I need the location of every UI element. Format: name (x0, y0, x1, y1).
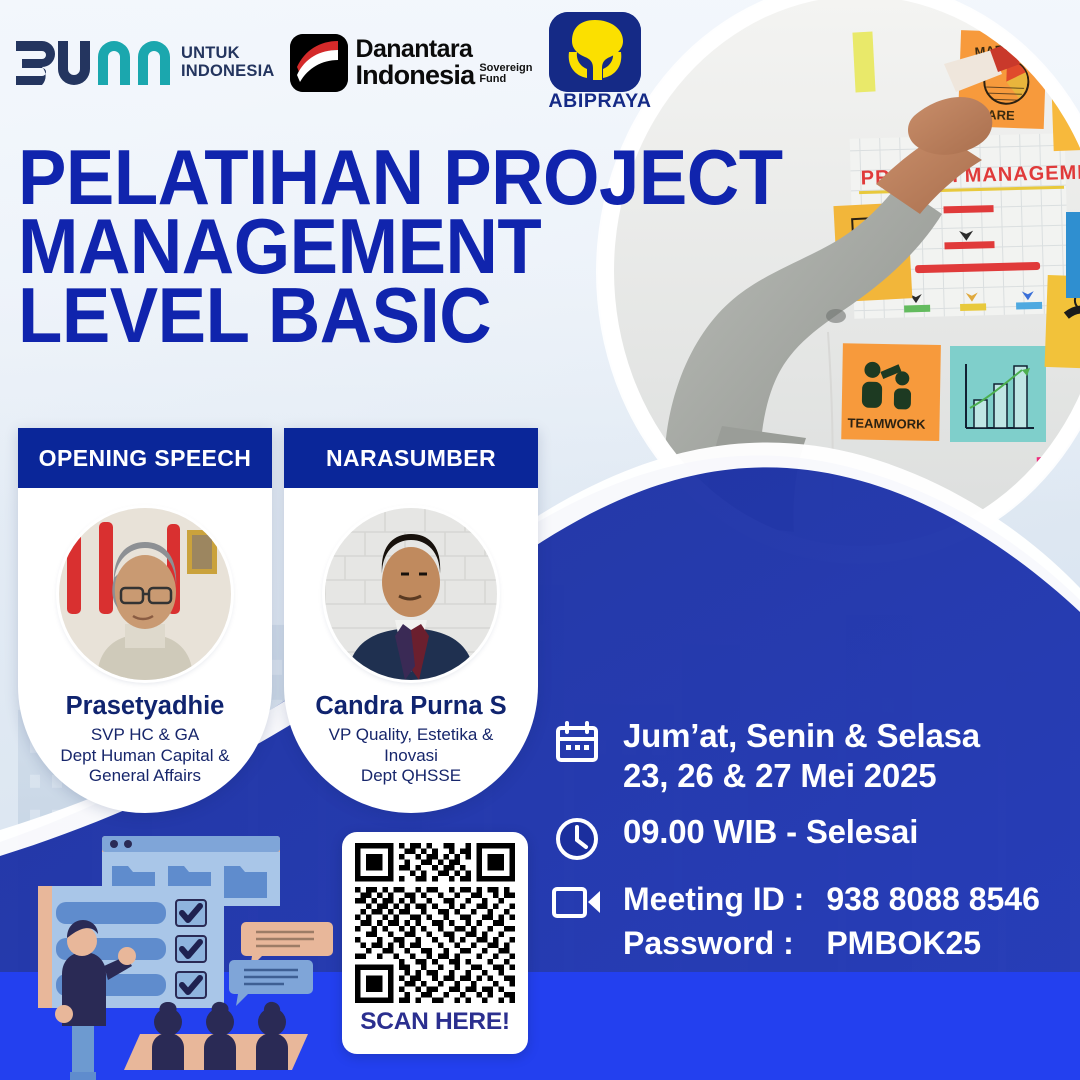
avatar (59, 508, 231, 680)
poster-root: PROJECT MANAGEMENT (0, 0, 1080, 1080)
speaker-role-line: Dept QHSSE (298, 766, 524, 787)
danantara-line2: Indonesia (355, 62, 474, 89)
meeting-id-label: Meeting ID : (623, 879, 804, 920)
page-title: PELATIHAN PROJECT MANAGEMENT LEVEL BASIC (18, 143, 783, 350)
clock-icon (552, 812, 602, 862)
qr-code-icon[interactable] (355, 843, 515, 1003)
danantara-sub2: Fund (479, 74, 532, 85)
abipraya-logo: ABIPRAYA (549, 12, 652, 113)
speaker-name: Prasetyadhie (32, 692, 258, 720)
bumn-wordmark-icon (14, 37, 174, 89)
bumn-tagline-line1: UNTUK (181, 45, 274, 62)
abipraya-name: ABIPRAYA (549, 90, 652, 113)
speaker-card-header: OPENING SPEECH (18, 428, 272, 488)
calendar-icon (552, 716, 602, 766)
event-details: Jum’at, Senin & Selasa 23, 26 & 27 Mei 2… (552, 716, 1040, 963)
bumn-tagline: UNTUK INDONESIA (181, 45, 274, 79)
password-value: PMBOK25 (826, 923, 1040, 964)
danantara-wordmark: Danantara Indonesia Sovereign Fund (355, 37, 532, 89)
event-time: 09.00 WIB - Selesai (623, 812, 918, 852)
speaker-cards: OPENING SPEECH (18, 428, 538, 813)
speaker-name: Candra Purna S (298, 692, 524, 720)
qr-label: SCAN HERE! (360, 1008, 509, 1036)
abipraya-mark-icon (549, 12, 641, 92)
title-line-3: LEVEL BASIC (18, 281, 783, 350)
speaker-role-line: Dept Human Capital & (32, 746, 258, 767)
speaker-role-line: SVP HC & GA (32, 725, 258, 746)
event-time-row: 09.00 WIB - Selesai (552, 812, 1040, 862)
speaker-role-line: General Affairs (32, 766, 258, 787)
event-date-line1: Jum’at, Senin & Selasa (623, 716, 980, 756)
speaker-role-line: Inovasi (298, 746, 524, 767)
avatar (325, 508, 497, 680)
qr-card[interactable]: SCAN HERE! (342, 832, 528, 1054)
danantara-logo: Danantara Indonesia Sovereign Fund (290, 34, 532, 92)
event-date-row: Jum’at, Senin & Selasa 23, 26 & 27 Mei 2… (552, 716, 1040, 795)
bumn-logo: UNTUK INDONESIA (14, 37, 274, 89)
danantara-mark-icon (290, 34, 348, 92)
video-camera-icon (552, 879, 602, 921)
meeting-id-value: 938 8088 8546 (826, 879, 1040, 920)
bumn-tagline-line2: INDONESIA (181, 63, 274, 80)
event-meeting-row: Meeting ID : 938 8088 8546 Password : PM… (552, 879, 1040, 963)
speaker-role-line: VP Quality, Estetika & (298, 725, 524, 746)
password-label: Password : (623, 923, 804, 964)
training-illustration (24, 826, 340, 1080)
speaker-card: OPENING SPEECH (18, 428, 272, 813)
speaker-card-header: NARASUMBER (284, 428, 538, 488)
event-date-line2: 23, 26 & 27 Mei 2025 (623, 756, 980, 796)
danantara-line1: Danantara (355, 37, 532, 62)
logo-bar: UNTUK INDONESIA Danantara Indonesia Sove… (14, 10, 654, 115)
speaker-card: NARASUMBER (284, 428, 538, 813)
